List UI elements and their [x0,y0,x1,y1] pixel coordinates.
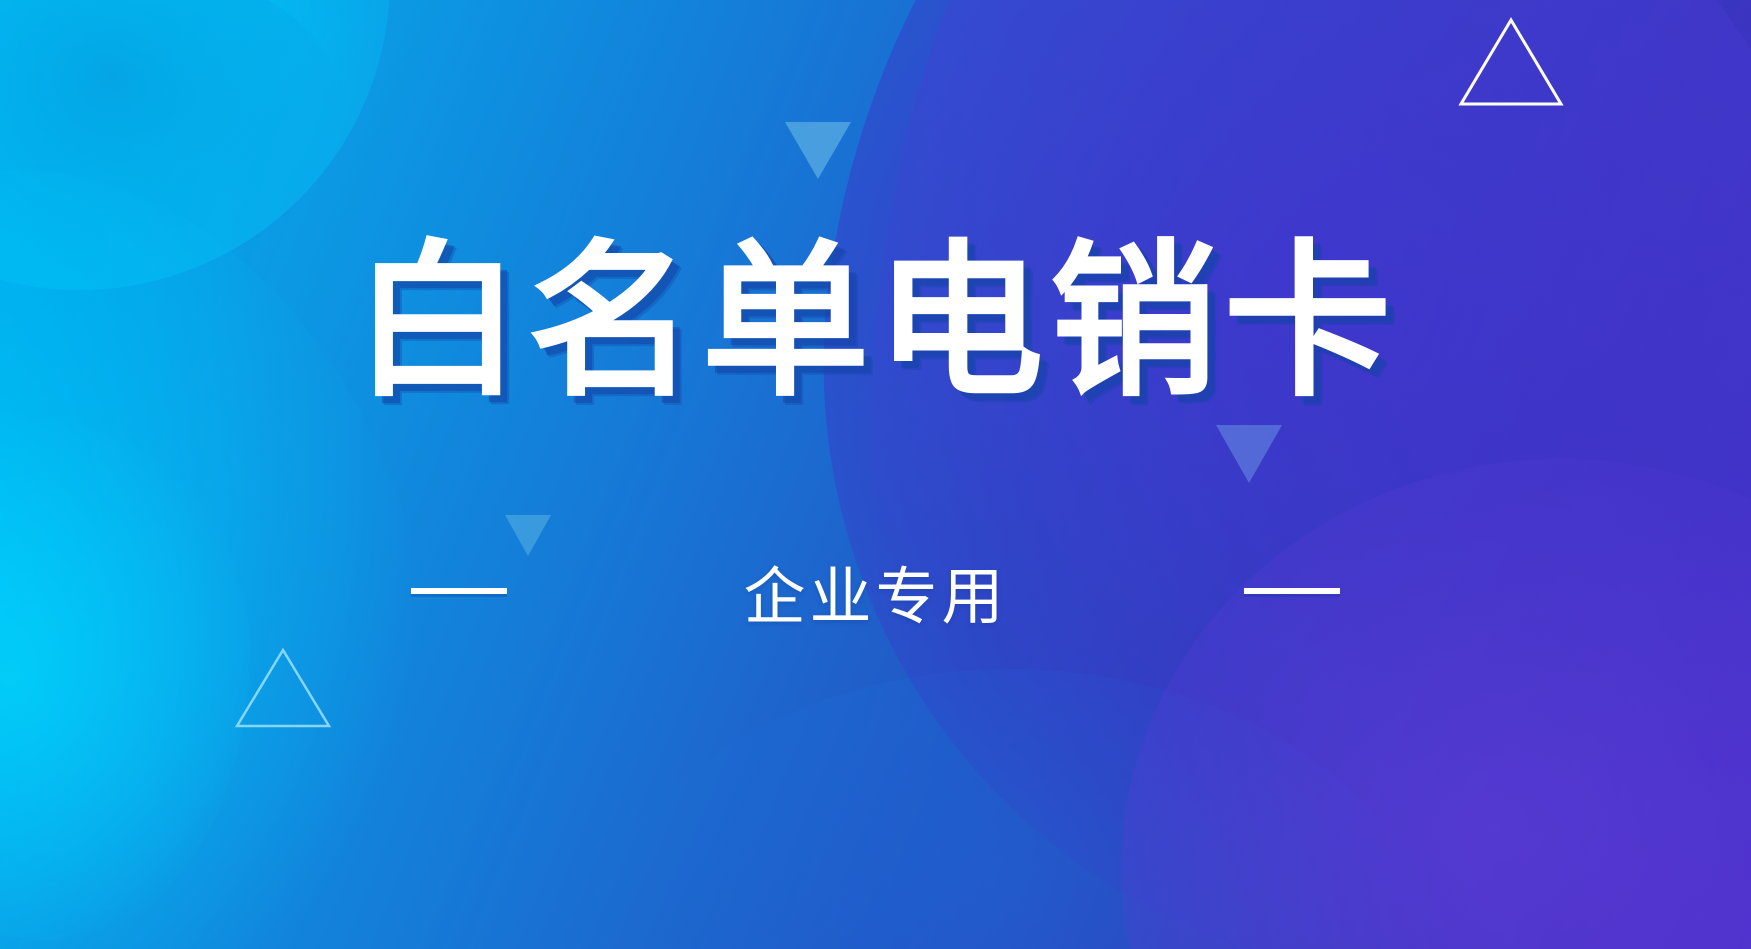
banner-subtitle: 企业专用 [743,546,1007,636]
subtitle-block: 企业专用 [0,546,1751,636]
triangle-down-mid-right-icon [1216,425,1282,483]
title-block: 白名单电销卡 [0,228,1751,416]
triangle-outline-top-right-icon [1455,14,1567,110]
promo-banner: 白名单电销卡 企业专用 [0,0,1751,949]
background-blob-center-blue [560,669,1460,949]
triangle-down-top-center-icon [785,122,851,179]
banner-title: 白名单电销卡 [354,228,1398,416]
dash-left-rule [411,588,507,594]
dash-right-rule [1244,588,1340,594]
background-blob-left-cyan-inner [0,420,250,940]
triangle-outline-bottom-left-icon [232,645,334,731]
background-blob-bottom-right-purple [1121,459,1751,949]
